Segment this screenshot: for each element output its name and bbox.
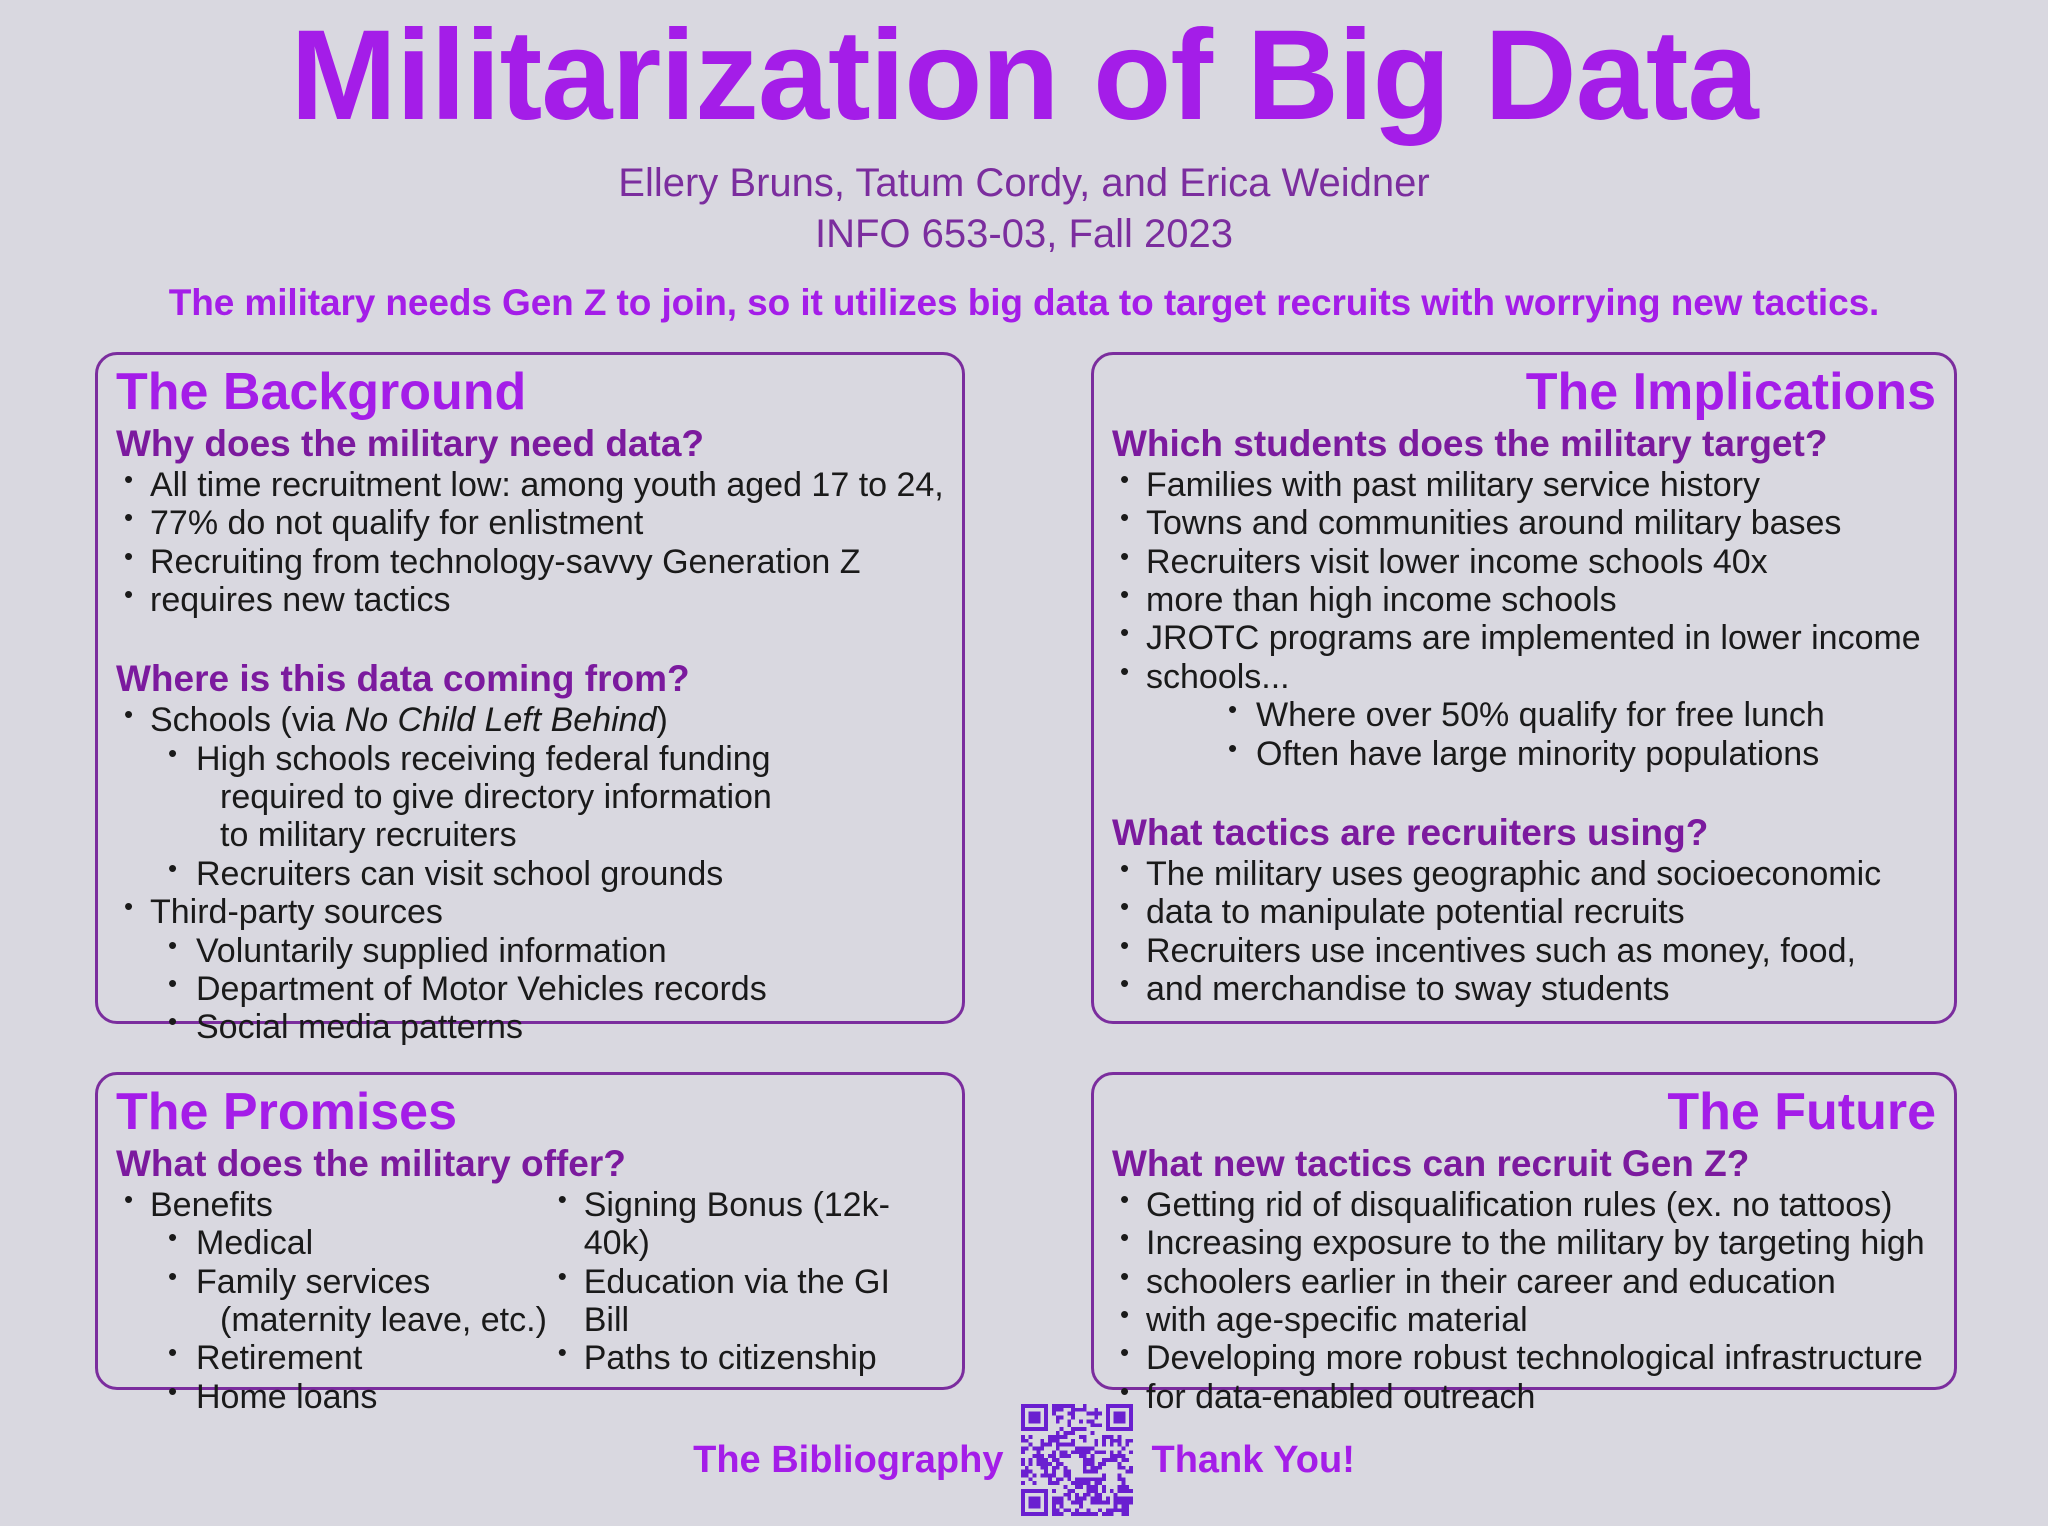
list-item: Education via the GI Bill <box>550 1263 944 1340</box>
list-item: Towns and communities around military ba… <box>1112 504 1936 542</box>
list-item-continuation: requires new tactics <box>116 581 944 619</box>
list-schools-sub: High schools receiving federal funding r… <box>116 740 944 894</box>
list-item: Voluntarily supplied information <box>162 932 944 970</box>
list-targeted-students: Families with past military service hist… <box>1112 466 1936 696</box>
list-jrotc-sub: Where over 50% qualify for free lunch Of… <box>1112 696 1936 773</box>
list-data-sources: Schools (via No Child Left Behind) <box>116 701 944 739</box>
list-item: High schools receiving federal funding <box>162 740 944 778</box>
list-item: The military uses geographic and socioec… <box>1112 855 1936 893</box>
poster-header: Militarization of Big Data Ellery Bruns,… <box>0 12 2048 324</box>
list-item-continuation: and merchandise to sway students <box>1112 970 1936 1008</box>
list-item: Developing more robust technological inf… <box>1112 1339 1936 1377</box>
bibliography-label: The Bibliography <box>693 1439 1003 1482</box>
list-item: Social media patterns <box>162 1008 944 1046</box>
list-item: Families with past military service hist… <box>1112 466 1936 504</box>
section-box-future: The Future What new tactics can recruit … <box>1091 1072 1957 1390</box>
subheading-where-data-comes-from: Where is this data coming from? <box>116 659 944 700</box>
poster-footer: The Bibliography Thank You! <box>0 1404 2048 1516</box>
list-third-party-sub: Voluntarily supplied information Departm… <box>116 932 944 1047</box>
list-item-benefits: Benefits <box>116 1186 550 1224</box>
list-item-continuation: schoolers earlier in their career and ed… <box>1112 1263 1936 1301</box>
poster-row-top: The Background Why does the military nee… <box>95 352 1957 1024</box>
list-item: Often have large minority populations <box>1222 735 1936 773</box>
list-item: JROTC programs are implemented in lower … <box>1112 619 1936 657</box>
promises-columns: Benefits Medical Family services (matern… <box>116 1186 944 1416</box>
list-item-continuation: schools... <box>1112 658 1936 696</box>
authors-block: Ellery Bruns, Tatum Cordy, and Erica Wei… <box>0 158 2048 260</box>
list-item-continuation: 77% do not qualify for enlistment <box>116 504 944 542</box>
section-title-promises: The Promises <box>116 1085 944 1140</box>
list-benefits-sub: Medical Family services (maternity leave… <box>116 1224 550 1416</box>
qr-code-icon[interactable] <box>1021 1404 1133 1516</box>
list-item-continuation: data to manipulate potential recruits <box>1112 893 1936 931</box>
list-item-continuation: more than high income schools <box>1112 581 1936 619</box>
section-title-background: The Background <box>116 365 944 420</box>
subheading-new-tactics-gen-z: What new tactics can recruit Gen Z? <box>1112 1144 1936 1185</box>
subheading-recruiter-tactics: What tactics are recruiters using? <box>1112 813 1936 854</box>
list-item: Medical <box>162 1224 550 1262</box>
list-item: Department of Motor Vehicles records <box>162 970 944 1008</box>
list-item: All time recruitment low: among youth ag… <box>116 466 944 504</box>
list-recruiter-tactics: The military uses geographic and socioec… <box>1112 855 1936 1009</box>
promises-column-left: Benefits Medical Family services (matern… <box>116 1186 550 1416</box>
list-item-continuation: required to give directory information <box>162 778 944 816</box>
section-box-background: The Background Why does the military nee… <box>95 352 965 1024</box>
subheading-which-students-targeted: Which students does the military target? <box>1112 424 1936 465</box>
list-item: Recruiters visit lower income schools 40… <box>1112 543 1936 581</box>
section-title-future: The Future <box>1112 1085 1936 1140</box>
list-benefits: Benefits <box>116 1186 550 1224</box>
list-item: Getting rid of disqualification rules (e… <box>1112 1186 1936 1224</box>
section-title-implications: The Implications <box>1112 365 1936 420</box>
poster-row-bottom: The Promises What does the military offe… <box>95 1072 1957 1390</box>
list-future-tactics: Getting rid of disqualification rules (e… <box>1112 1186 1936 1416</box>
poster-grid: The Background Why does the military nee… <box>95 352 1957 1390</box>
list-third-party: Third-party sources <box>116 893 944 931</box>
subheading-what-military-offers: What does the military offer? <box>116 1144 944 1185</box>
page-title: Militarization of Big Data <box>0 12 2048 140</box>
list-item-continuation: with age-specific material <box>1112 1301 1936 1339</box>
subheading-why-military-needs-data: Why does the military need data? <box>116 424 944 465</box>
list-item: Increasing exposure to the military by t… <box>1112 1224 1936 1262</box>
promises-column-right: Signing Bonus (12k-40k) Education via th… <box>550 1186 944 1416</box>
list-item-schools: Schools (via No Child Left Behind) <box>116 701 944 739</box>
thank-you-label: Thank You! <box>1151 1439 1354 1482</box>
list-item: Family services <box>162 1263 550 1301</box>
list-item: Signing Bonus (12k-40k) <box>550 1186 944 1263</box>
schools-trail-text: ) <box>657 701 668 739</box>
list-item: Paths to citizenship <box>550 1339 944 1377</box>
list-promises-extra: Signing Bonus (12k-40k) Education via th… <box>550 1186 944 1378</box>
list-item: Recruiters use incentives such as money,… <box>1112 932 1936 970</box>
list-item: Where over 50% qualify for free lunch <box>1222 696 1936 734</box>
law-title-no-child-left-behind: No Child Left Behind <box>345 701 657 739</box>
course-line: INFO 653-03, Fall 2023 <box>0 209 2048 260</box>
list-why-military-needs-data: All time recruitment low: among youth ag… <box>116 466 944 620</box>
schools-lead-text: Schools (via <box>150 701 345 739</box>
list-item-third-party: Third-party sources <box>116 893 944 931</box>
list-item: Retirement <box>162 1339 550 1377</box>
list-item-continuation: (maternity leave, etc.) <box>162 1301 550 1339</box>
list-item-continuation: to military recruiters <box>162 816 944 854</box>
section-box-promises: The Promises What does the military offe… <box>95 1072 965 1390</box>
list-item: Recruiters can visit school grounds <box>162 855 944 893</box>
poster-tagline: The military needs Gen Z to join, so it … <box>0 282 2048 324</box>
section-box-implications: The Implications Which students does the… <box>1091 352 1957 1024</box>
list-item: Recruiting from technology-savvy Generat… <box>116 543 944 581</box>
authors-line: Ellery Bruns, Tatum Cordy, and Erica Wei… <box>0 158 2048 209</box>
